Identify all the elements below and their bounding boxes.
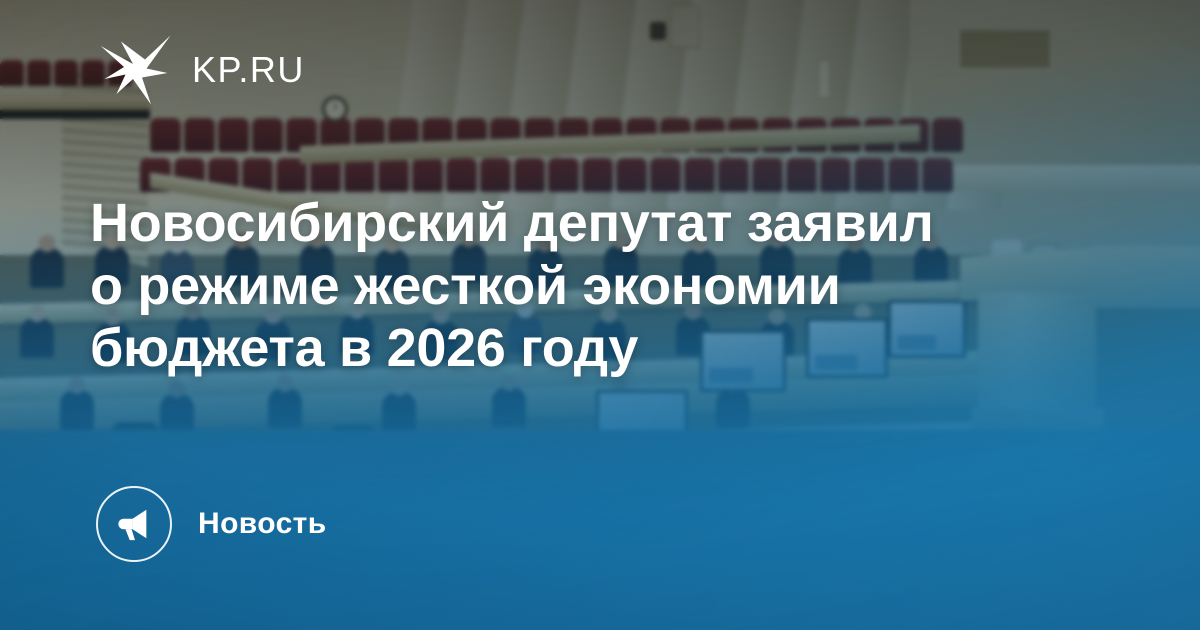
category-badge[interactable]: Новость xyxy=(96,486,327,562)
swallow-bird-icon xyxy=(98,34,174,106)
news-share-card: KP.RU Новосибирский депутат заявил о реж… xyxy=(0,0,1200,630)
category-badge-label: Новость xyxy=(198,509,327,539)
headline-line-1: Новосибирский депутат заявил xyxy=(90,192,1050,255)
headline-line-3: бюджета в 2026 году xyxy=(90,317,1050,380)
headline: Новосибирский депутат заявил о режиме же… xyxy=(90,192,1050,380)
brand-name-label: KP.RU xyxy=(192,52,305,88)
card-content: KP.RU Новосибирский депутат заявил о реж… xyxy=(0,0,1200,630)
headline-line-2: о режиме жесткой экономии xyxy=(90,255,1050,318)
megaphone-icon xyxy=(115,505,153,543)
brand-lockup[interactable]: KP.RU xyxy=(98,34,305,106)
megaphone-icon-ring xyxy=(96,486,172,562)
